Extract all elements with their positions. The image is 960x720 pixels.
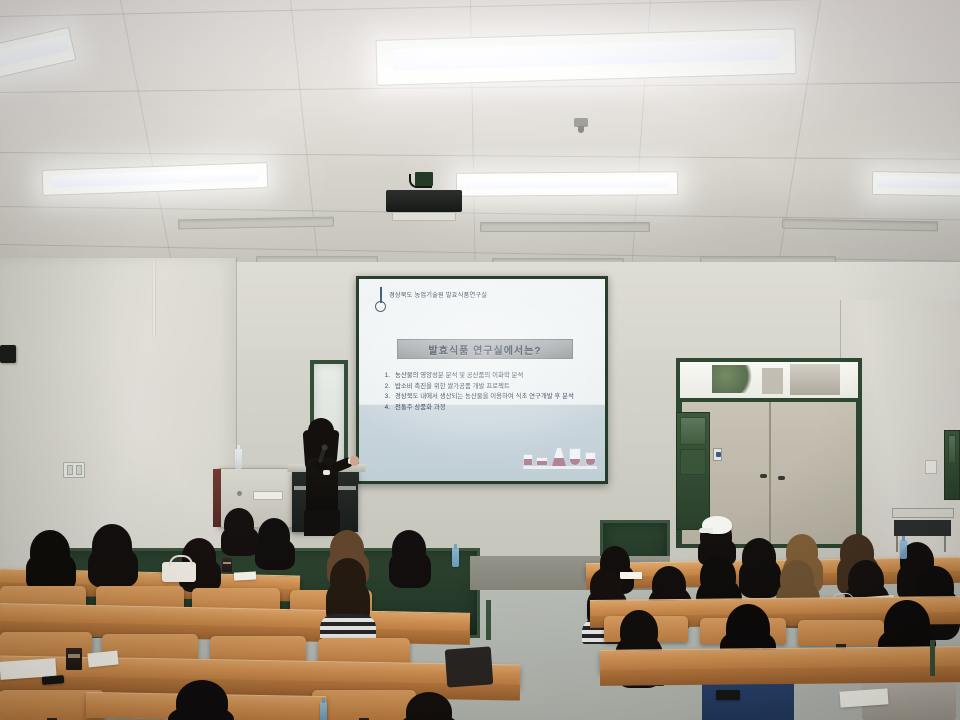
door-handle[interactable] bbox=[760, 474, 767, 478]
door-side-panel bbox=[676, 412, 710, 530]
ceiling-light-fixture bbox=[872, 171, 960, 197]
sprinkler-icon bbox=[574, 118, 588, 127]
transom-window bbox=[680, 362, 858, 398]
desk-leg bbox=[930, 640, 935, 676]
slide-list-number: 2. bbox=[381, 382, 390, 393]
laboratory-glassware-icon bbox=[523, 444, 597, 466]
slide-list-text: 전통주 상품화 과정 bbox=[395, 403, 446, 414]
water-bottle bbox=[235, 449, 242, 469]
slide-list-text: 농산물의 영양성분 분석 및 공산품의 이화학 분석 bbox=[395, 371, 523, 382]
notebook-papers bbox=[234, 571, 256, 580]
slide-list-item: 2. 밥소비 촉진을 위한 쌀가공품 개발 프로젝트 bbox=[381, 382, 597, 393]
slide-list-item: 4. 전통주 상품화 과정 bbox=[381, 403, 597, 414]
ceiling-light-fixture bbox=[375, 28, 796, 86]
ceiling-light-fixture bbox=[456, 171, 678, 197]
handbag-dark bbox=[445, 646, 494, 687]
drink-carton bbox=[222, 558, 232, 572]
desk-leg bbox=[486, 600, 491, 640]
wall-green-panel-right bbox=[944, 430, 960, 500]
wall-speaker bbox=[0, 345, 16, 363]
presentation-slide: 경상북도 농업기술원 발효식품연구실 발효식품 연구실에서는? 1. 농산물의 … bbox=[359, 279, 605, 481]
presenter-hand bbox=[350, 456, 359, 466]
notebook-papers bbox=[620, 572, 642, 579]
ceiling-light-fixture bbox=[42, 162, 269, 196]
ceiling bbox=[0, 0, 960, 272]
card-reader-icon[interactable] bbox=[713, 448, 722, 461]
seat-back bbox=[312, 690, 416, 720]
wall-outlet[interactable] bbox=[925, 460, 937, 474]
slide-list-number: 4. bbox=[381, 403, 390, 414]
slide-list-number: 1. bbox=[381, 371, 390, 382]
seat-back bbox=[798, 620, 884, 646]
ceiling-light-fixture-off bbox=[782, 219, 938, 232]
slide-list-item: 1. 농산물의 영양성분 분석 및 공산품의 이화학 분석 bbox=[381, 371, 597, 382]
slide-list-item: 3. 경상북도 내에서 생산되는 농산물을 이용하여 식초 연구개발 후 분석 bbox=[381, 392, 597, 403]
slide-list-text: 밥소비 촉진을 위한 쌀가공품 개발 프로젝트 bbox=[395, 382, 510, 393]
slide-title: 발효식품 연구실에서는? bbox=[397, 339, 573, 359]
glassware-shelf bbox=[523, 466, 597, 469]
light-switch-plate[interactable] bbox=[63, 462, 85, 478]
projection-screen: 경상북도 농업기술원 발효식품연구실 발효식품 연구실에서는? 1. 농산물의 … bbox=[356, 276, 608, 484]
slide-list-number: 3. bbox=[381, 392, 390, 403]
door-handle[interactable] bbox=[778, 476, 785, 480]
mobile-phone bbox=[716, 690, 740, 700]
water-bottle bbox=[452, 548, 459, 567]
projector bbox=[386, 182, 462, 214]
slide-list-text: 경상북도 내에서 생산되는 농산물을 이용하여 식초 연구개발 후 분석 bbox=[395, 392, 574, 403]
presenter bbox=[296, 418, 358, 534]
white-cap-icon bbox=[702, 516, 732, 534]
slide-header-text: 경상북도 농업기술원 발효식품연구실 bbox=[389, 290, 595, 299]
slide-bullet-list: 1. 농산물의 영양성분 분석 및 공산품의 이화학 분석 2. 밥소비 촉진을… bbox=[381, 371, 597, 413]
ceiling-light-fixture bbox=[0, 27, 76, 84]
ceiling-light-fixture-off bbox=[178, 217, 334, 230]
water-bottle bbox=[900, 540, 907, 559]
water-bottle bbox=[320, 702, 327, 720]
ceiling-light-fixture-off bbox=[480, 222, 650, 232]
drink-carton bbox=[66, 648, 82, 670]
notebook-papers bbox=[840, 688, 889, 707]
lecture-hall-photo: 경상북도 농업기술원 발효식품연구실 발효식품 연구실에서는? 1. 농산물의 … bbox=[0, 0, 960, 720]
handbag-white bbox=[162, 562, 196, 582]
slide-header-dot-icon bbox=[375, 301, 386, 312]
